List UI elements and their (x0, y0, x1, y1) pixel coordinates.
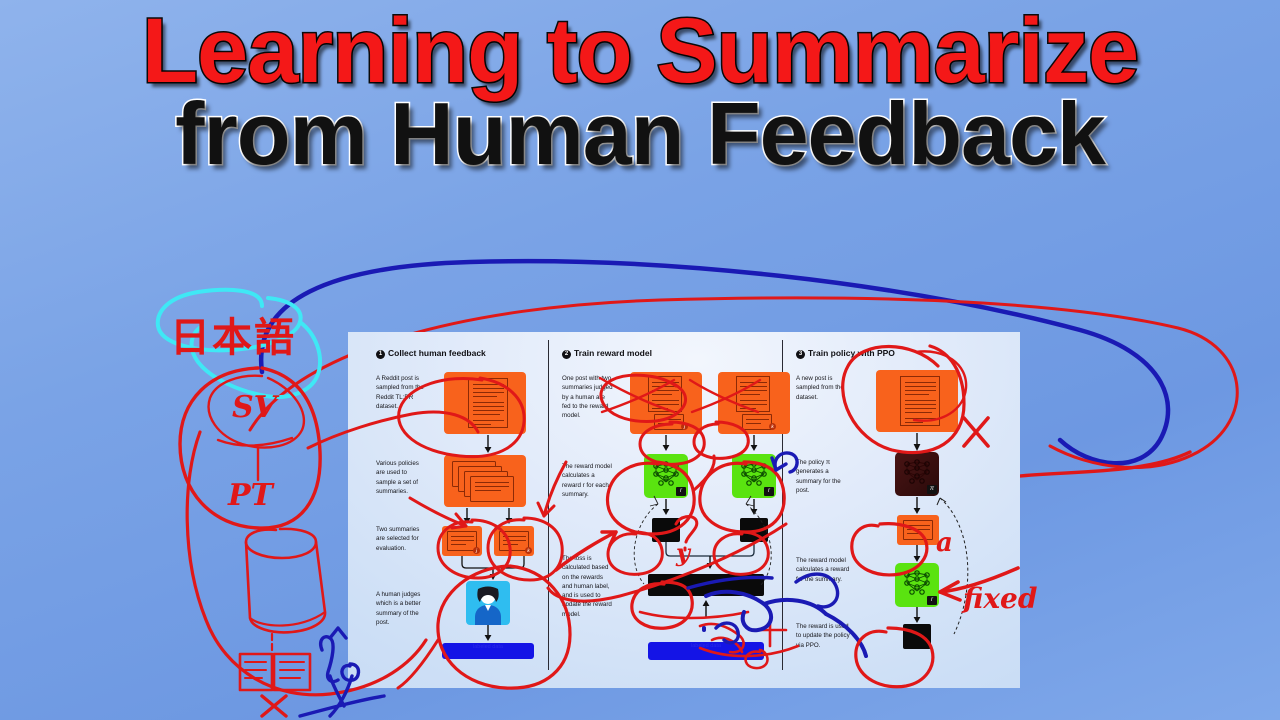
red-plus-bottom (758, 620, 786, 646)
annotation-a: a (936, 528, 953, 558)
red-small-oval-bottom (746, 650, 768, 668)
red-sweep-down-left (187, 432, 426, 695)
title-line-2: from Human Feedback (0, 90, 1280, 178)
red-x-step3 (964, 418, 988, 446)
red-arrow-into-summaries (410, 498, 466, 526)
red-loop-left-to-step1 (308, 412, 478, 448)
annotation-pt: PT (228, 478, 273, 513)
red-scribble-step2-card-k (690, 380, 760, 412)
video-title: Learning to Summarize from Human Feedbac… (0, 6, 1280, 178)
blue-line-loss (688, 577, 772, 588)
red-circle-reward-model-left (607, 462, 694, 534)
blue-y-letter (330, 676, 352, 716)
red-circle-human-judge (438, 566, 570, 688)
red-arrow-from-right-to-summaries (544, 462, 566, 516)
red-circle-step3-post (843, 346, 964, 453)
red-circle-step2-card-j (601, 375, 686, 421)
annotation-sv: SV (232, 390, 277, 425)
blue-curve-right (826, 614, 866, 656)
annotation-y: y (676, 538, 690, 567)
red-circle-step3-summary (852, 524, 927, 575)
red-x-bottom-left (262, 696, 286, 716)
red-circle-reward-model-right (700, 462, 784, 532)
red-long-from-right (548, 524, 786, 601)
title-line-1: Learning to Summarize (0, 6, 1280, 96)
red-scribble-step2-card-j (600, 378, 674, 412)
red-circle-step3-post-2 (914, 351, 966, 420)
annotation-japanese-text: 日本語 (170, 305, 296, 363)
red-line-through-loss (640, 612, 748, 618)
red-cylinder-top (246, 529, 316, 558)
blue-caret (330, 628, 346, 638)
red-circle-step2-summary-k (694, 422, 748, 458)
annotation-fixed: fixed (963, 582, 1037, 615)
red-doc-sketch-right (274, 654, 310, 690)
red-circle-reward-value-left (608, 532, 662, 574)
red-cylinder-bottom-arc (250, 612, 325, 626)
blue-arrow-divider-head (772, 458, 786, 470)
